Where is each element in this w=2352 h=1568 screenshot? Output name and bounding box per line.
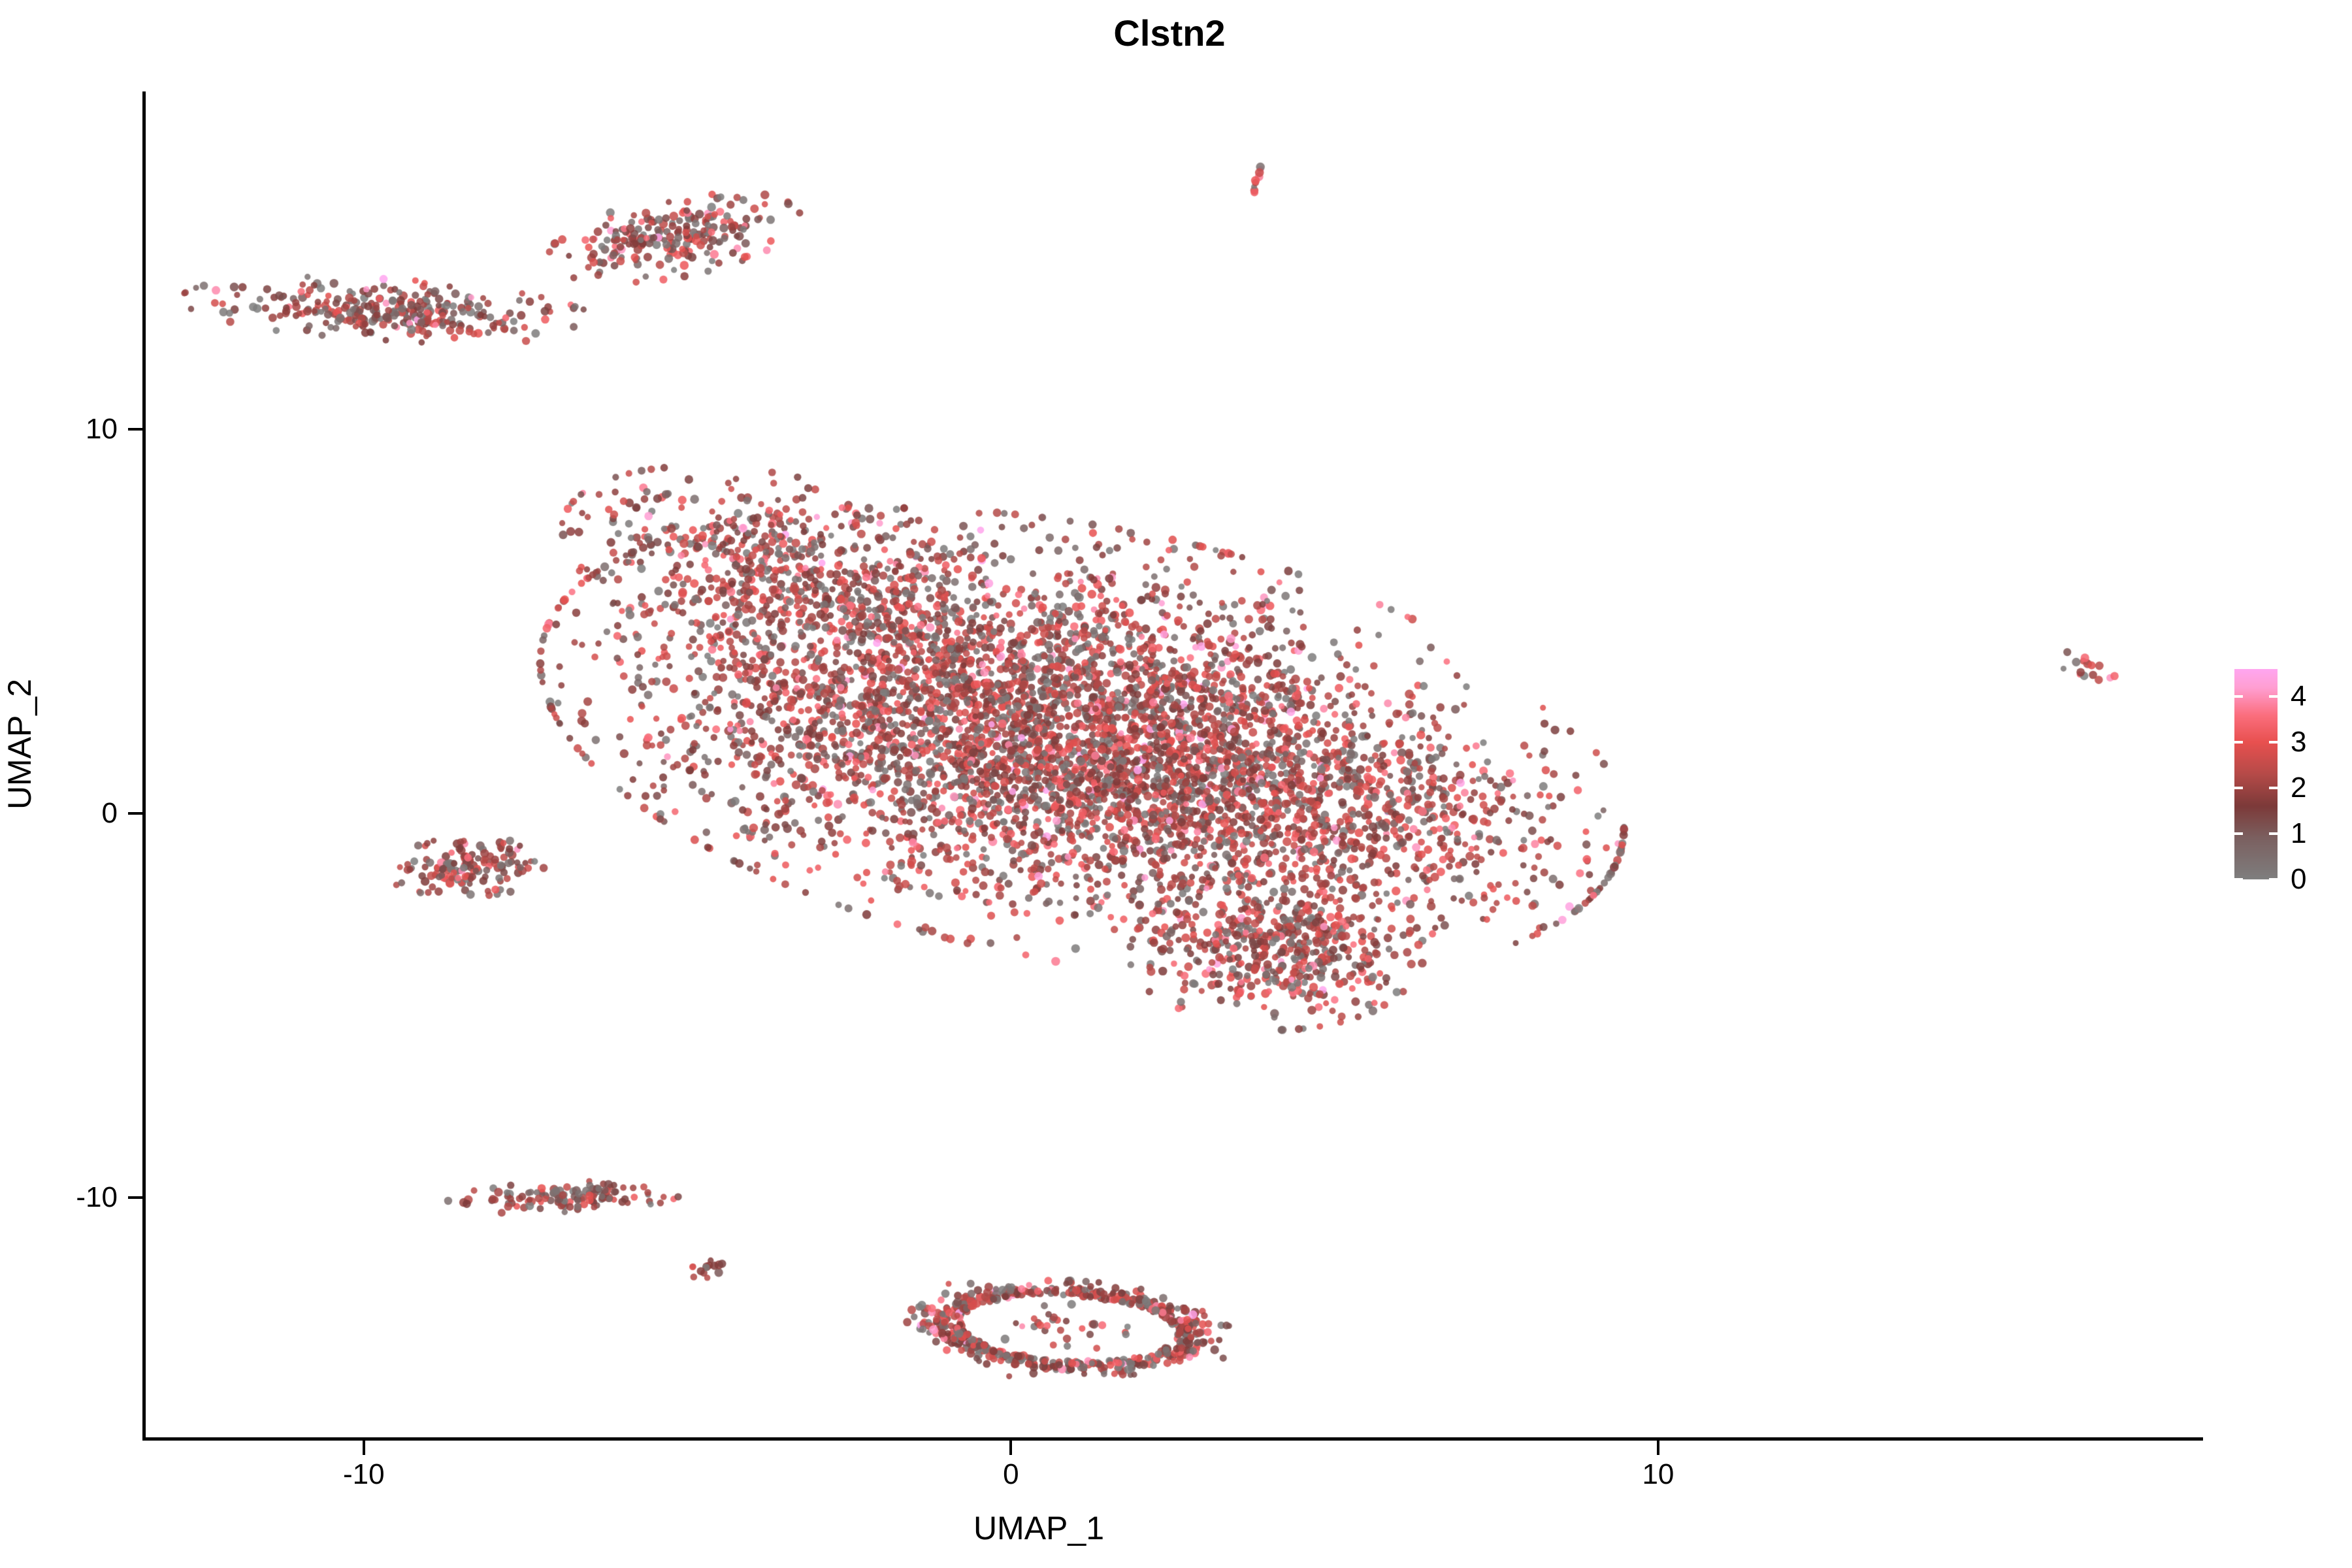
colorbar-tick-label: 3 <box>2291 726 2306 759</box>
y-axis-line <box>142 91 146 1441</box>
y-tick-mark <box>128 1196 142 1199</box>
x-axis-line <box>144 1437 2203 1441</box>
colorbar-tick-mark <box>2234 787 2243 789</box>
x-tick-label: 0 <box>1003 1458 1019 1491</box>
colorbar-bar <box>2234 669 2278 879</box>
plot-panel <box>144 91 2202 1439</box>
colorbar-tick-mark <box>2269 878 2278 881</box>
y-tick-label: -10 <box>76 1181 118 1214</box>
y-tick-label: 10 <box>86 413 118 446</box>
x-tick-mark <box>1657 1441 1659 1455</box>
colorbar-tick-mark <box>2269 832 2278 835</box>
x-axis-title: UMAP_1 <box>0 1509 2352 1547</box>
colorbar-tick-mark <box>2269 741 2278 743</box>
colorbar-tick-mark <box>2234 832 2243 835</box>
chart-root: Clstn2 100-10 -10010 UMAP_1 UMAP_2 43210 <box>0 0 2352 1568</box>
y-tick-label: 0 <box>102 797 118 830</box>
y-tick-mark <box>128 812 142 815</box>
colorbar-gradient <box>2234 669 2278 879</box>
colorbar-tick-label: 0 <box>2291 863 2306 896</box>
colorbar-tick-label: 4 <box>2291 680 2306 713</box>
x-tick-label: 10 <box>1642 1458 1674 1491</box>
colorbar-tick-mark <box>2234 741 2243 743</box>
page-title: Clstn2 <box>0 12 2352 54</box>
x-tick-label: -10 <box>343 1458 385 1491</box>
colorbar-tick-mark <box>2269 695 2278 698</box>
colorbar-tick-label: 2 <box>2291 772 2306 804</box>
x-tick-mark <box>363 1441 365 1455</box>
colorbar-tick-mark <box>2234 695 2243 698</box>
colorbar-tick-mark <box>2269 787 2278 789</box>
colorbar-tick-label: 1 <box>2291 817 2306 850</box>
colorbar-tick-mark <box>2234 878 2243 881</box>
y-tick-mark <box>128 428 142 431</box>
colorbar-legend: 43210 <box>2234 669 2352 885</box>
y-axis-title: UMAP_2 <box>1 417 39 1071</box>
x-tick-mark <box>1009 1441 1012 1455</box>
umap-scatter-canvas <box>144 91 2202 1439</box>
